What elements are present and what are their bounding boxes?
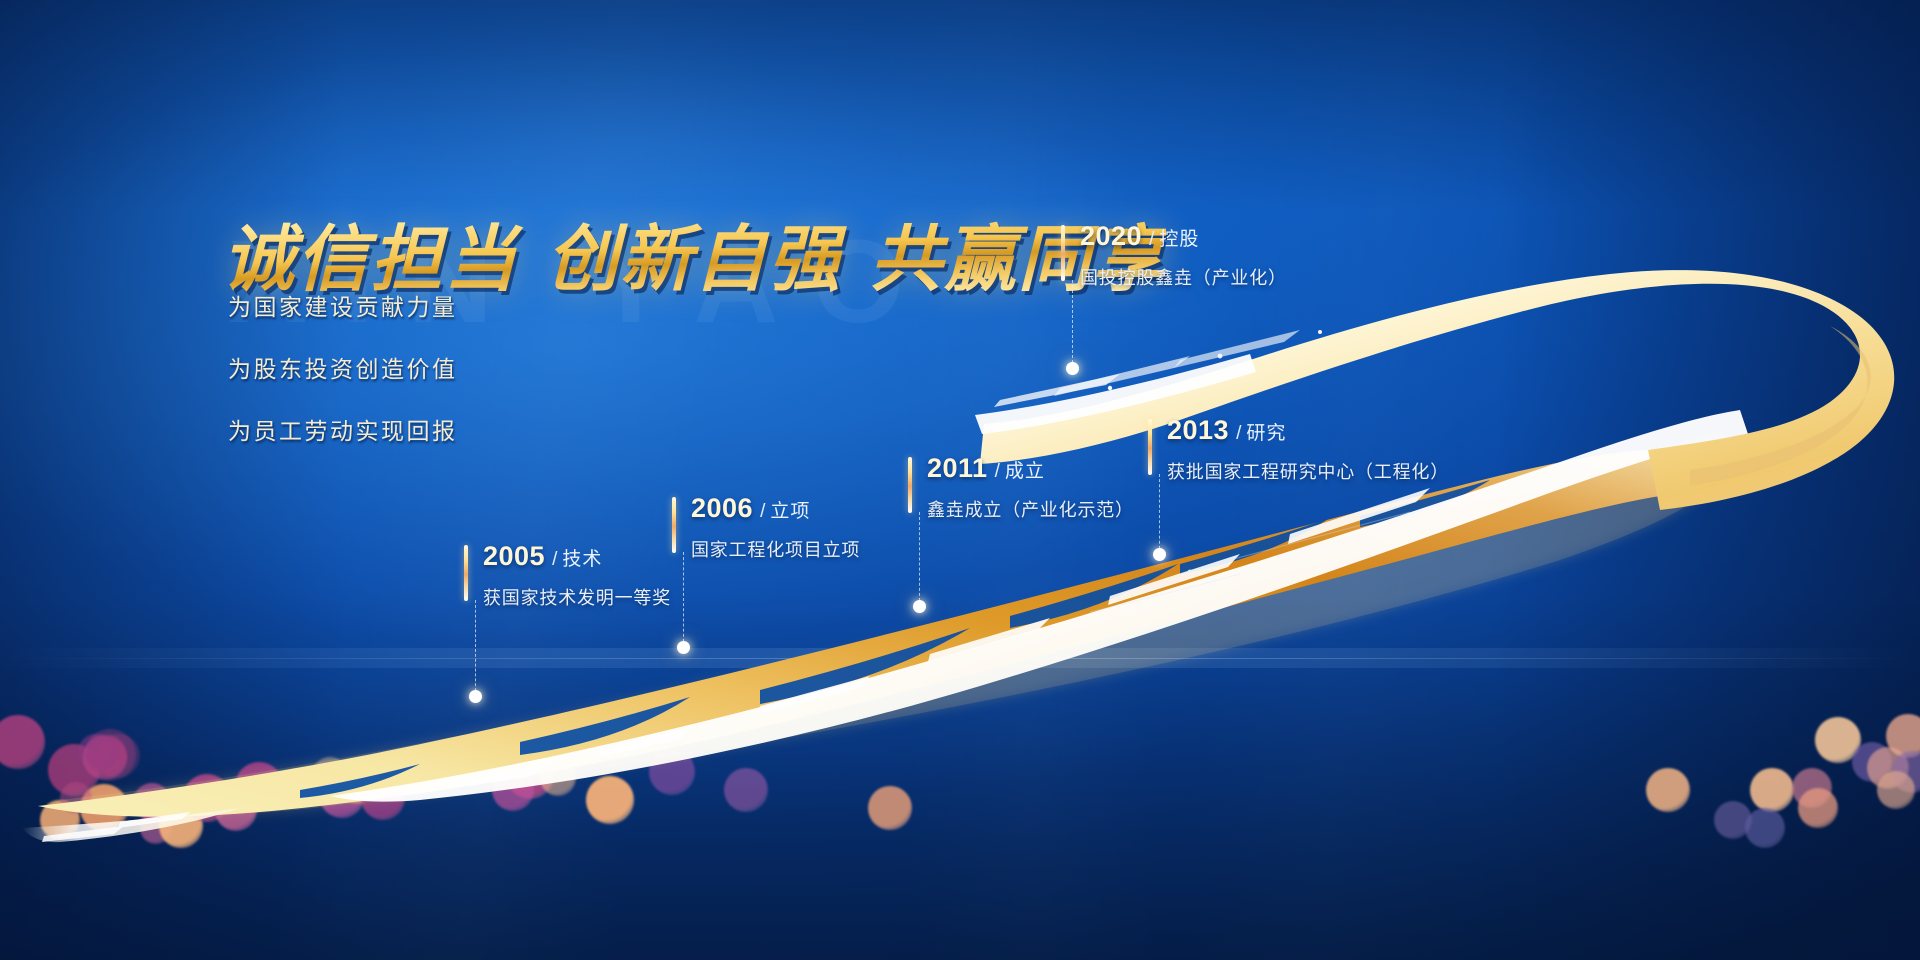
bokeh-light <box>1745 808 1785 848</box>
bokeh-light <box>60 782 92 814</box>
milestone-description: 获国家技术发明一等奖 <box>483 584 671 610</box>
milestone-body: 2006/立项国家工程化项目立项 <box>672 495 860 562</box>
bokeh-light <box>724 768 768 812</box>
bokeh-light <box>868 786 912 830</box>
milestone-accent-bar <box>672 497 676 553</box>
milestone-accent-bar <box>464 545 468 601</box>
bokeh-light <box>586 776 634 824</box>
milestone-year: 2005 <box>483 541 545 571</box>
milestone-description: 国家工程化项目立项 <box>691 536 860 562</box>
milestone-leader-line <box>475 600 476 696</box>
bokeh-light <box>235 762 283 810</box>
bokeh-light <box>361 776 405 820</box>
milestone-body: 2011/成立鑫垚成立（产业化示范） <box>908 455 1134 522</box>
milestone-body: 2013/研究获批国家工程研究中心（工程化） <box>1148 417 1449 484</box>
milestone-dot-marker[interactable] <box>1153 548 1166 561</box>
milestone-separator: / <box>552 549 557 570</box>
milestone-tag: 成立 <box>1005 461 1045 482</box>
milestone-description: 鑫垚成立（产业化示范） <box>927 496 1134 522</box>
milestone-heading: 2005/技术 <box>483 543 671 570</box>
bokeh-light <box>1750 768 1794 812</box>
milestone-separator: / <box>1149 229 1154 250</box>
bokeh-light <box>312 757 348 793</box>
milestone-body: 2020/控股国投控股鑫垚（产业化） <box>1061 223 1287 290</box>
milestone-year: 2006 <box>691 493 753 523</box>
milestone-accent-bar <box>1061 225 1065 281</box>
bokeh-light <box>649 749 695 795</box>
milestone-description: 国投控股鑫垚（产业化） <box>1080 264 1287 290</box>
milestone-body: 2005/技术获国家技术发明一等奖 <box>464 543 671 610</box>
slogan-item: 为国家建设贡献力量 <box>228 288 458 322</box>
timeline-milestone[interactable]: 2011/成立鑫垚成立（产业化示范） <box>908 455 1134 522</box>
bokeh-light <box>1798 788 1838 828</box>
milestone-separator: / <box>1236 423 1241 444</box>
timeline-milestone[interactable]: 2005/技术获国家技术发明一等奖 <box>464 543 671 610</box>
milestone-year: 2020 <box>1080 221 1142 251</box>
milestone-leader-line <box>1072 280 1073 368</box>
banner-canvas: XIN YAO 诚信担当创新自强共赢同享 为国家建设贡献力量 为股东投资创造价值… <box>0 0 1920 960</box>
milestone-dot-marker[interactable] <box>677 641 690 654</box>
milestone-year: 2013 <box>1167 415 1229 445</box>
slogan-item: 为股东投资创造价值 <box>228 350 458 384</box>
horizon-divider-line <box>0 658 1920 659</box>
milestone-accent-bar <box>908 457 912 513</box>
milestone-leader-line <box>683 552 684 647</box>
milestone-tag: 研究 <box>1246 423 1286 444</box>
milestone-heading: 2013/研究 <box>1167 417 1449 444</box>
timeline-milestone[interactable]: 2006/立项国家工程化项目立项 <box>672 495 860 562</box>
bokeh-light <box>492 769 534 811</box>
timeline-milestone[interactable]: 2013/研究获批国家工程研究中心（工程化） <box>1148 417 1449 484</box>
milestone-separator: / <box>760 501 765 522</box>
milestone-heading: 2011/成立 <box>927 455 1134 482</box>
milestone-heading: 2020/控股 <box>1080 223 1287 250</box>
bokeh-light <box>85 736 121 772</box>
bokeh-light <box>1877 771 1915 809</box>
milestone-year: 2011 <box>927 453 988 483</box>
milestone-leader-line <box>919 512 920 606</box>
milestone-dot-marker[interactable] <box>913 600 926 613</box>
milestone-heading: 2006/立项 <box>691 495 860 522</box>
milestone-description: 获批国家工程研究中心（工程化） <box>1167 458 1449 484</box>
milestone-tag: 控股 <box>1159 229 1199 250</box>
milestone-tag: 技术 <box>562 549 602 570</box>
timeline-milestone[interactable]: 2020/控股国投控股鑫垚（产业化） <box>1061 223 1287 290</box>
milestone-dot-marker[interactable] <box>1066 362 1079 375</box>
milestone-accent-bar <box>1148 419 1152 475</box>
bokeh-light <box>540 760 576 796</box>
milestone-dot-marker[interactable] <box>469 690 482 703</box>
milestone-leader-line <box>1159 474 1160 554</box>
milestone-separator: / <box>995 461 1000 482</box>
slogan-item: 为员工劳动实现回报 <box>228 412 458 446</box>
slogan-list: 为国家建设贡献力量 为股东投资创造价值 为员工劳动实现回报 <box>228 288 458 474</box>
bokeh-light <box>133 783 171 821</box>
bokeh-light <box>1646 768 1690 812</box>
milestone-tag: 立项 <box>770 501 810 522</box>
headline-part-2: 创新自强 <box>546 220 842 300</box>
